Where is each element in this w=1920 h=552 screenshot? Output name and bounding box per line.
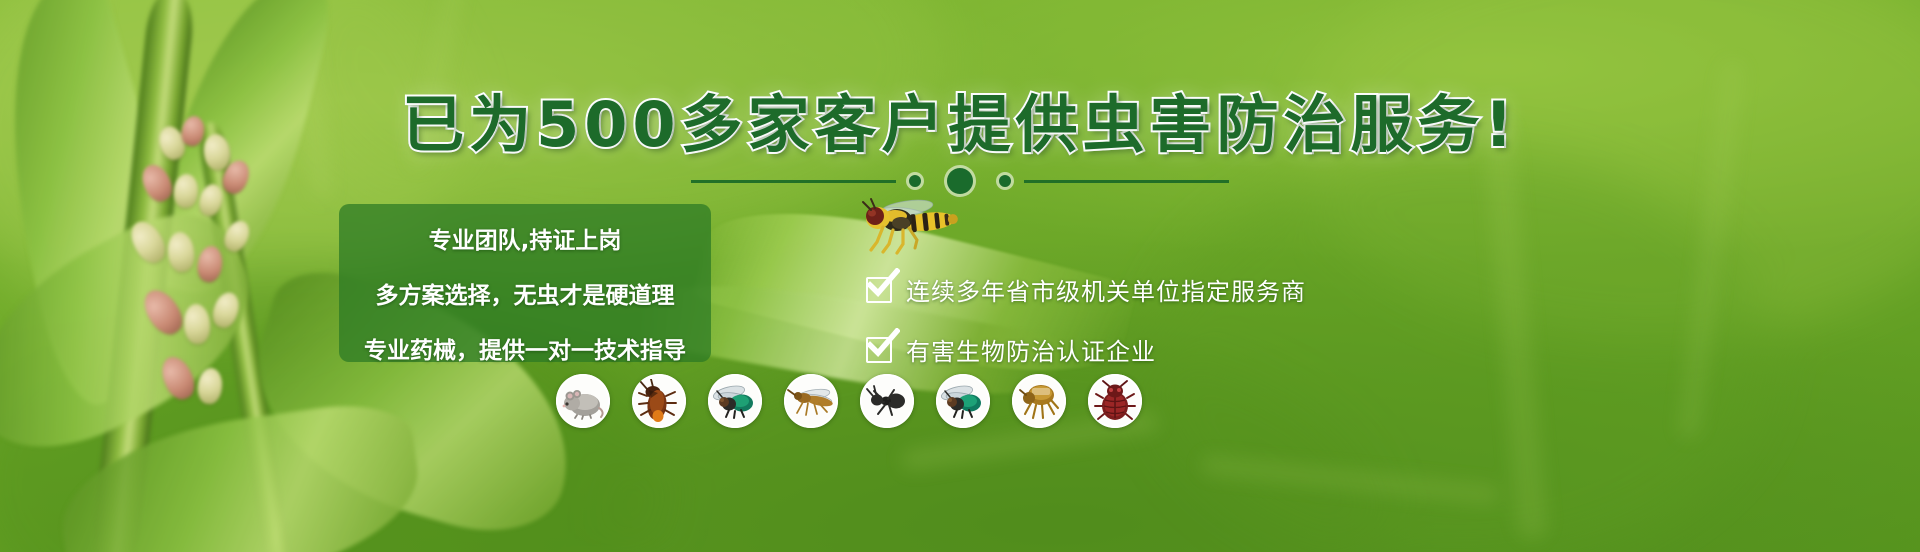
divider xyxy=(691,168,1229,194)
certification-label: 连续多年省市级机关单位指定服务商 xyxy=(906,272,1306,307)
hoverfly-icon xyxy=(845,196,965,258)
pest-icon-bedbug[interactable]: 臭虫 xyxy=(1088,374,1142,428)
pest-icon-cockroach[interactable]: 蟑螂 xyxy=(632,374,686,428)
certification-label: 有害生物防治认证企业 xyxy=(906,332,1156,367)
pest-icon-blowfly[interactable]: 绿头蝇 xyxy=(936,374,990,428)
divider-dot-large xyxy=(947,168,973,194)
list-item: 有害生物防治认证企业 xyxy=(866,332,1306,367)
banner-headline-text: 已为500多家客户提供虫害防治服务! xyxy=(402,88,1518,161)
pest-icon-mouse[interactable]: 鼠 xyxy=(556,374,610,428)
checkbox-checked-icon xyxy=(866,277,892,303)
flower-buds xyxy=(140,120,360,450)
features-panel-line-3: 专业药械，提供一对一技术指导 xyxy=(339,331,711,365)
banner-headline: 已为500多家客户提供虫害防治服务! xyxy=(0,74,1920,164)
features-panel-line-2: 多方案选择，无虫才是硬道理 xyxy=(339,276,711,310)
divider-dot-small xyxy=(909,175,921,187)
pest-icon-row: 鼠 蟑螂 xyxy=(556,374,1142,428)
divider-bar-left xyxy=(691,180,896,183)
pest-icon-fly[interactable]: 苍蝇 xyxy=(708,374,762,428)
pest-icon-flea[interactable]: 跳蚤 xyxy=(1012,374,1066,428)
pest-icon-ant[interactable]: 蚂蚁 xyxy=(860,374,914,428)
divider-bar-right xyxy=(1024,180,1229,183)
checkbox-checked-icon xyxy=(866,337,892,363)
promo-banner: 已为500多家客户提供虫害防治服务! 专业团队,持证上岗 多方案选择，无虫才是硬… xyxy=(0,0,1920,552)
features-panel-line-1: 专业团队,持证上岗 xyxy=(339,221,711,255)
list-item: 连续多年省市级机关单位指定服务商 xyxy=(866,272,1306,307)
pest-icon-mosquito[interactable]: 蚊 xyxy=(784,374,838,428)
divider-dot-small xyxy=(999,175,1011,187)
features-panel: 专业团队,持证上岗 多方案选择，无虫才是硬道理 专业药械，提供一对一技术指导 xyxy=(339,204,711,362)
